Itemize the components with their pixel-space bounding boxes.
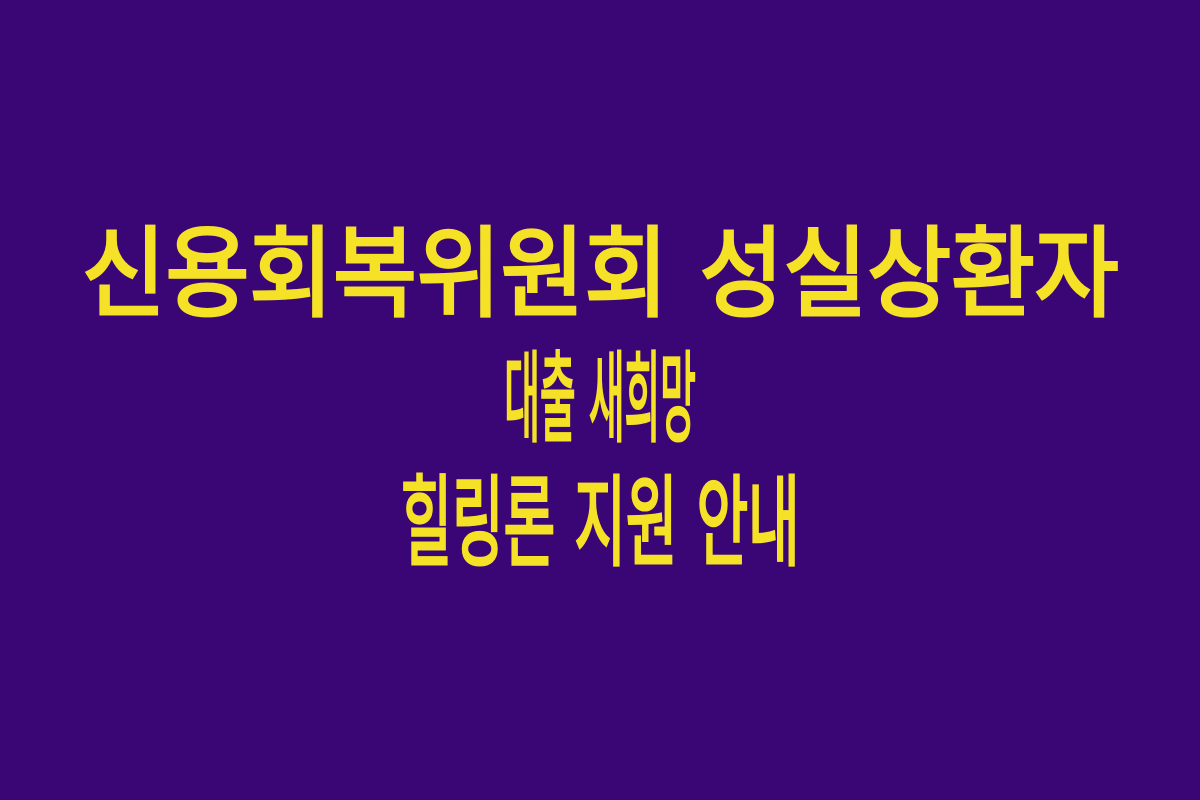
- headline-line-2: 대출 새희망: [364, 338, 836, 463]
- headline-line-3: 힐링론 지원 안내: [259, 462, 941, 587]
- headline-block: 신용회복위원회 성실상환자 대출 새희망 힐링론 지원 안내: [0, 213, 1200, 587]
- banner-canvas: 신용회복위원회 성실상환자 대출 새희망 힐링론 지원 안내: [0, 0, 1200, 800]
- headline-line-1: 신용회복위원회 성실상환자: [45, 213, 1155, 338]
